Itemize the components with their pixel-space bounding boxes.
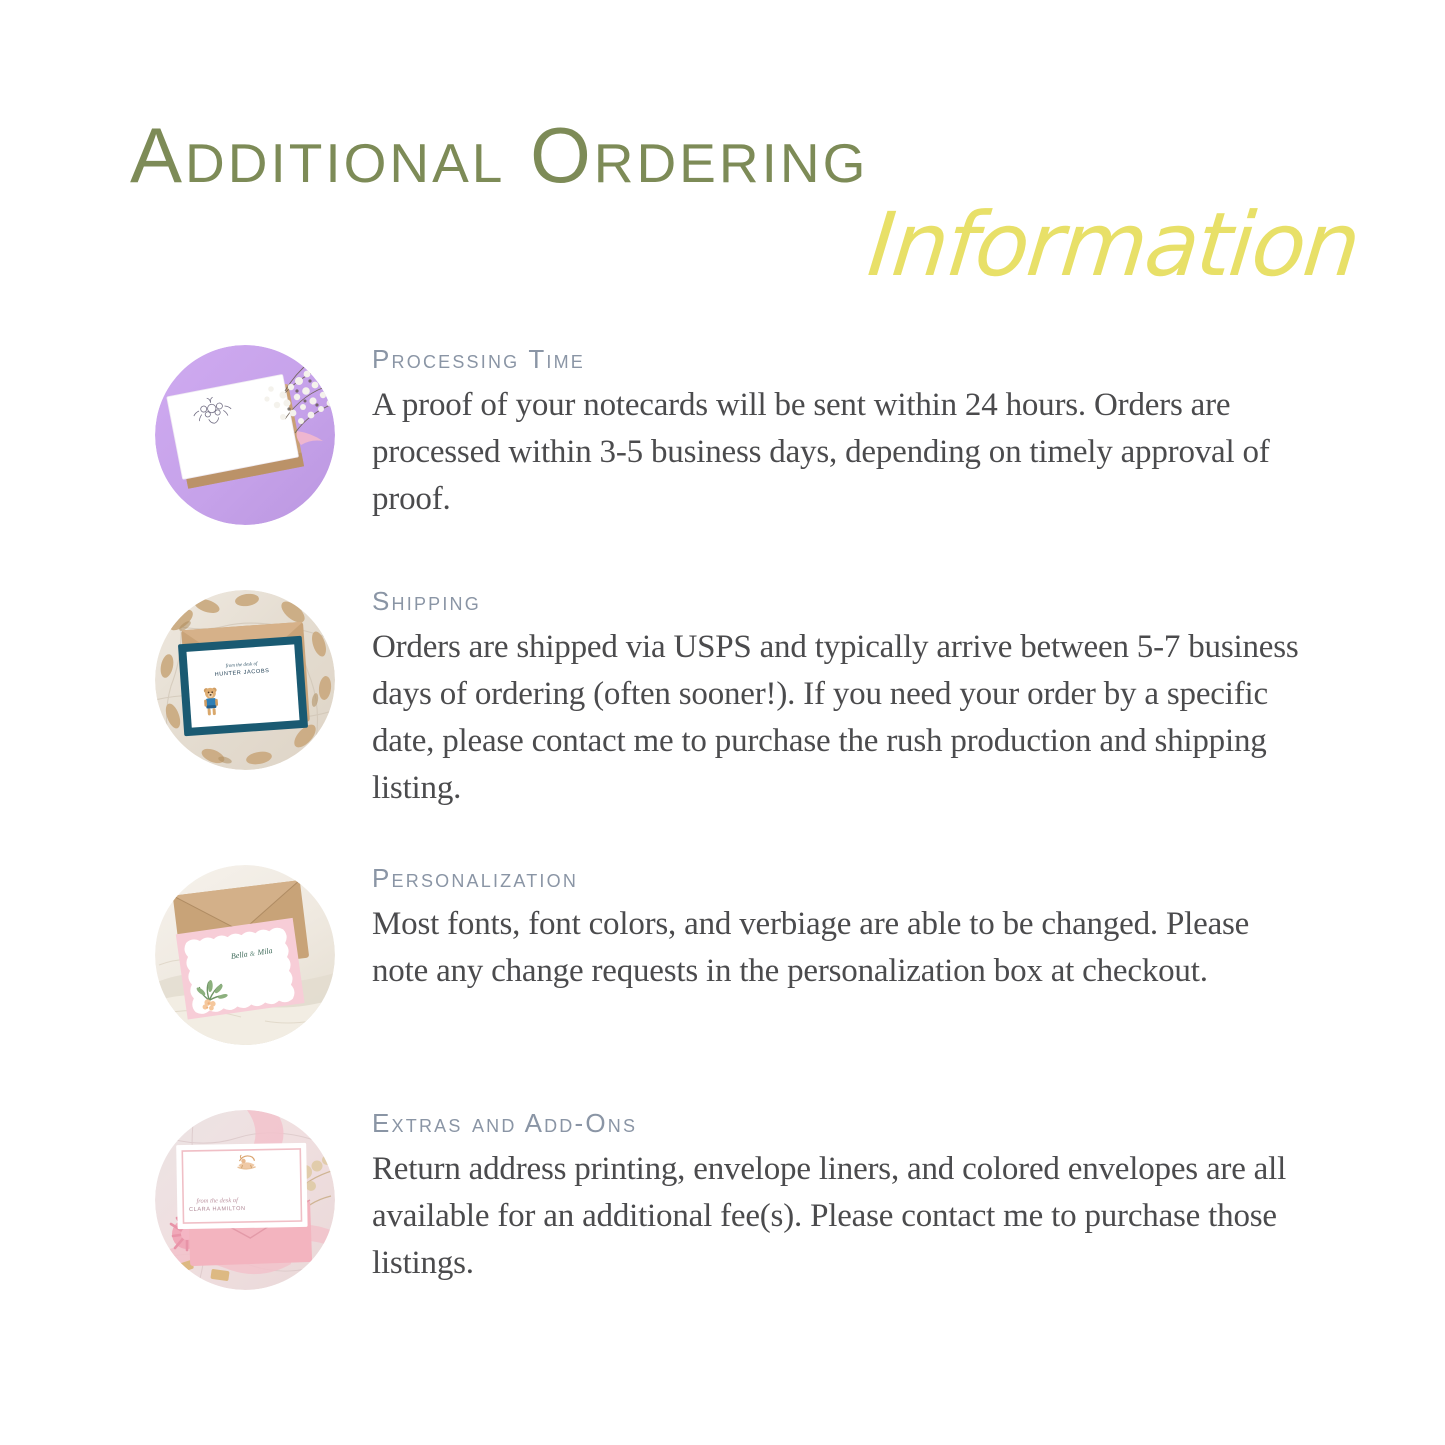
- section-text-processing-time: Processing Time A proof of your notecard…: [372, 342, 1302, 523]
- section-body: Most fonts, font colors, and verbiage ar…: [372, 901, 1302, 995]
- pink-rockinghorse-notecard-photo: from the desk of CLARA HAMILTON: [155, 1110, 335, 1290]
- thumbnail-extras-addons: from the desk of CLARA HAMILTON: [155, 1110, 335, 1290]
- lavender-notecard-photo: [155, 345, 335, 525]
- section-text-personalization: Personalization Most fonts, font colors,…: [372, 861, 1302, 995]
- thumbnail-processing-time: [155, 345, 335, 525]
- section-heading: Shipping: [372, 584, 1302, 618]
- section-text-shipping: Shipping Orders are shipped via USPS and…: [372, 584, 1302, 812]
- section-body: A proof of your notecards will be sent w…: [372, 382, 1302, 523]
- section-heading: Processing Time: [372, 342, 1302, 376]
- page-title-script: Information: [124, 190, 1364, 300]
- section-text-extras-addons: Extras and Add-Ons Return address printi…: [372, 1106, 1302, 1287]
- section-heading: Extras and Add-Ons: [372, 1106, 1302, 1140]
- teal-teddy-notecard-photo: from the desk of HUNTER JACOBS: [155, 590, 335, 770]
- svg-text:from the desk of: from the desk of: [196, 1197, 239, 1205]
- section-body: Return address printing, envelope liners…: [372, 1146, 1302, 1287]
- section-heading: Personalization: [372, 861, 1302, 895]
- pink-scallop-notecard-photo: Bella Mila &: [155, 865, 335, 1045]
- svg-text:CLARA HAMILTON: CLARA HAMILTON: [189, 1206, 246, 1213]
- thumbnail-shipping: from the desk of HUNTER JACOBS: [155, 590, 335, 770]
- section-body: Orders are shipped via USPS and typicall…: [372, 624, 1302, 812]
- page-title: Additional Ordering: [130, 112, 1315, 198]
- thumbnail-personalization: Bella Mila &: [155, 865, 335, 1045]
- page-header: Additional Ordering Information: [0, 112, 1445, 302]
